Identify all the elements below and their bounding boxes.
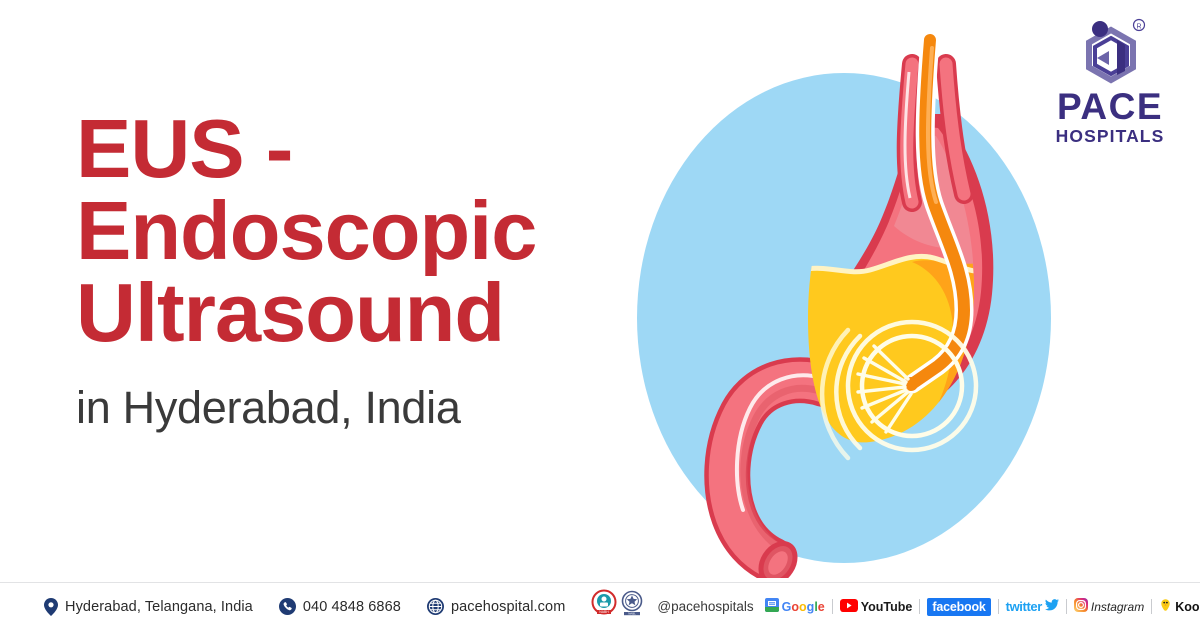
social-badge-facebook[interactable]: facebook: [927, 598, 990, 616]
social-badge-youtube[interactable]: YouTube: [840, 599, 913, 615]
stomach-endoscopic-ultrasound-illustration: [612, 18, 1072, 578]
headline-line-1: EUS -: [76, 108, 636, 190]
footer-social-group: NABH NABL @pacehospitals: [591, 589, 1200, 624]
subtitle: in Hyderabad, India: [76, 384, 636, 431]
social-badge-google-label: Google: [782, 600, 825, 614]
badge-separator: [919, 599, 920, 614]
social-badge-koo-label: Koo: [1175, 600, 1199, 614]
social-handle: @pacehospitals: [657, 599, 753, 614]
footer-phone-text: 040 4848 6868: [303, 599, 401, 615]
social-badge-youtube-label: YouTube: [861, 600, 913, 614]
promo-banner: EUS - Endoscopic Ultrasound in Hyderabad…: [0, 0, 1200, 630]
footer-phone[interactable]: 040 4848 6868: [279, 598, 401, 615]
headline-line-3: Ultrasound: [76, 272, 636, 354]
headline-line-2: Endoscopic: [76, 190, 636, 272]
footer-location-text: Hyderabad, Telangana, India: [65, 599, 253, 615]
social-badge-facebook-label: facebook: [927, 598, 990, 616]
headline-block: EUS - Endoscopic Ultrasound in Hyderabad…: [76, 108, 636, 432]
footer-website[interactable]: pacehospital.com: [427, 598, 565, 615]
page-title: EUS - Endoscopic Ultrasound: [76, 108, 636, 354]
social-badge-instagram-label: Instagram: [1091, 600, 1144, 614]
globe-icon: [427, 598, 444, 615]
footer-bar: Hyderabad, Telangana, India 040 4848 686…: [0, 582, 1200, 630]
badge-separator: [1151, 599, 1152, 614]
svg-text:NABL: NABL: [629, 612, 637, 616]
location-pin-icon: [44, 598, 58, 616]
social-badge-twitter[interactable]: twitter: [1006, 599, 1059, 614]
accreditation-seals: NABH NABL: [591, 589, 643, 624]
badge-separator: [1066, 599, 1067, 614]
badge-separator: [832, 599, 833, 614]
social-badge-twitter-label: twitter: [1006, 599, 1042, 614]
nabl-seal-icon: NABL: [621, 589, 643, 624]
footer-location: Hyderabad, Telangana, India: [44, 598, 253, 616]
nabh-seal-icon: NABH: [591, 589, 617, 624]
koo-bird-icon: [1159, 598, 1172, 615]
google-icon: [765, 598, 779, 615]
social-badge-google[interactable]: Google: [765, 598, 825, 615]
svg-text:R: R: [1136, 24, 1141, 31]
phone-icon: [279, 598, 296, 615]
twitter-bird-icon: [1045, 599, 1059, 614]
social-badge-koo[interactable]: Koo: [1159, 598, 1199, 615]
svg-text:NABH: NABH: [600, 610, 610, 614]
instagram-icon: [1074, 598, 1088, 615]
footer-contact-group: Hyderabad, Telangana, India 040 4848 686…: [0, 598, 565, 616]
footer-website-text: pacehospital.com: [451, 599, 565, 615]
social-badge-instagram[interactable]: Instagram: [1074, 598, 1144, 615]
badge-separator: [998, 599, 999, 614]
youtube-icon: [840, 599, 858, 615]
